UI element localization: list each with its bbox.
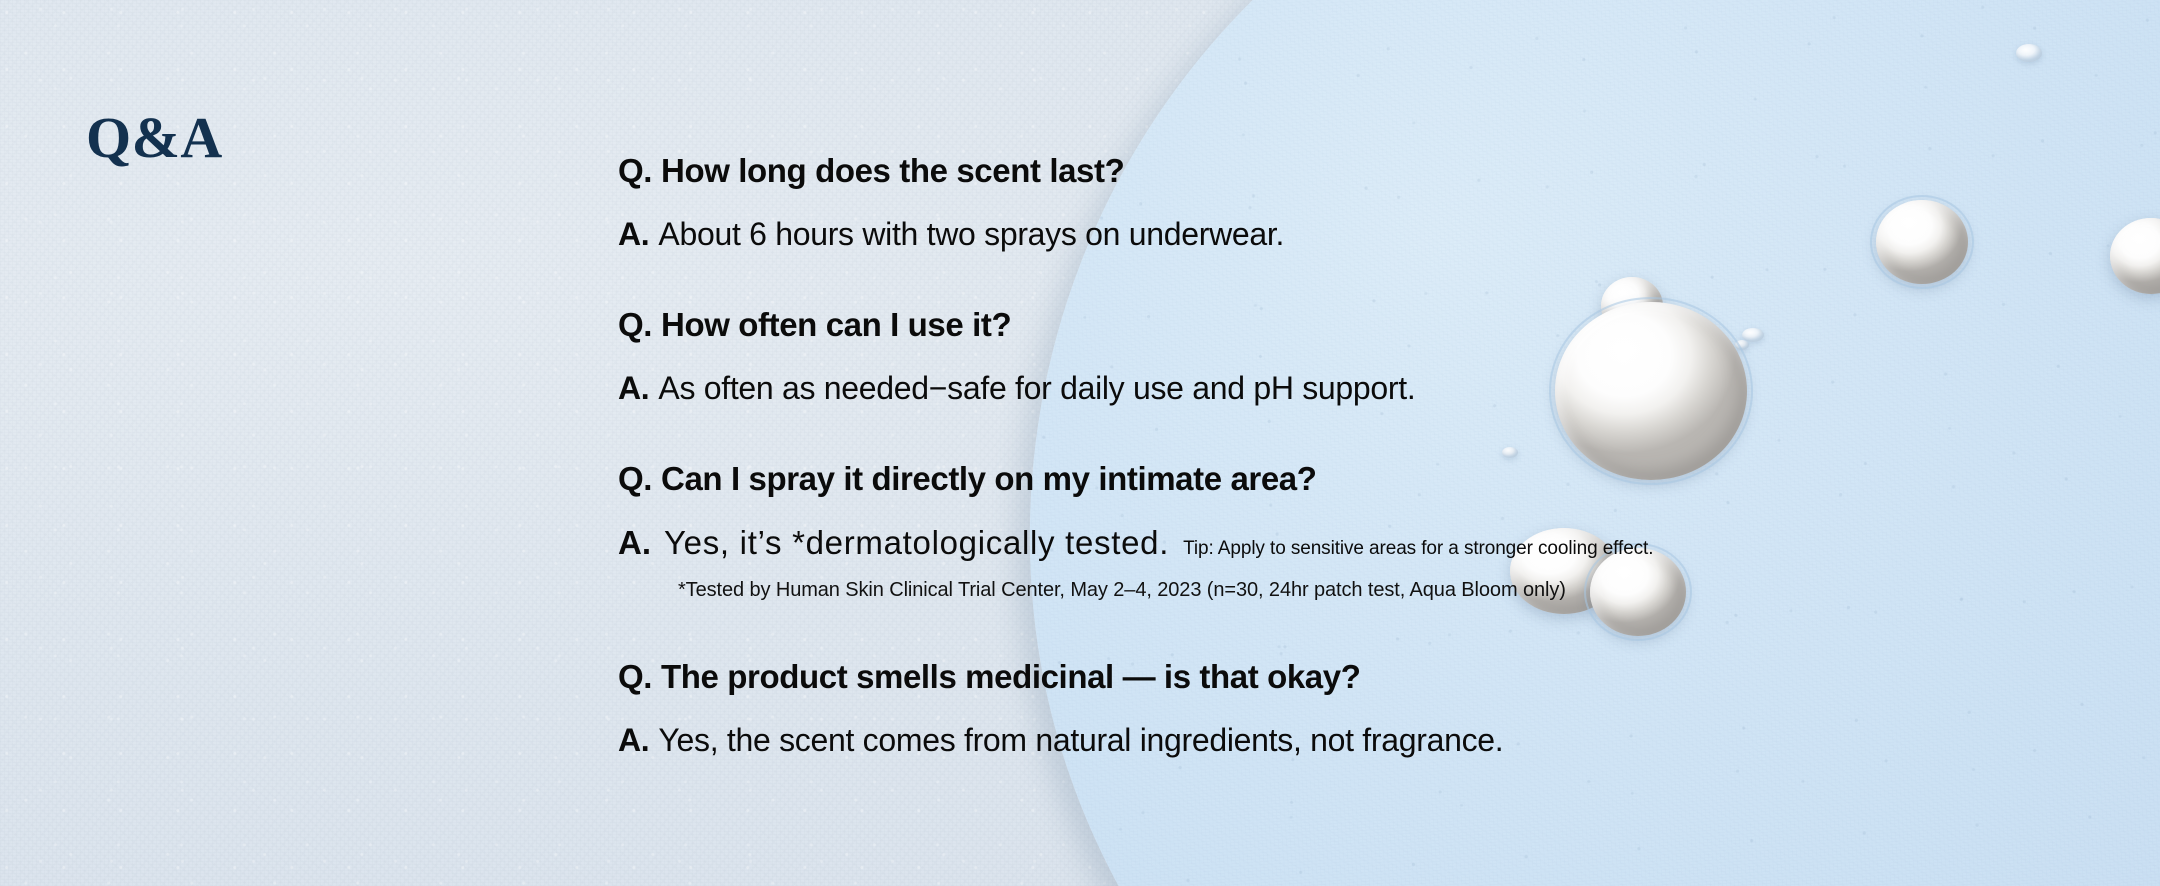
question-line-1: Q.How long does the scent last? <box>618 154 2118 187</box>
clinical-trial-footnote: *Tested by Human Skin Clinical Trial Cen… <box>678 579 2118 602</box>
answer-label: A. <box>618 216 649 252</box>
question-text: How often can I use it? <box>661 306 1011 343</box>
question-text: How long does the scent last? <box>661 152 1124 189</box>
answer-line-3: A.Yes, it’s *dermatologically tested.Tip… <box>618 526 2118 559</box>
question-line-4: Q.The product smells medicinal — is that… <box>618 660 2118 693</box>
answer-line-2: A.As often as needed−safe for daily use … <box>618 372 2118 404</box>
water-droplet-small-top <box>2016 44 2042 62</box>
question-label: Q. <box>618 460 652 497</box>
spacer <box>618 428 2118 462</box>
question-text: The product smells medicinal — is that o… <box>661 658 1360 695</box>
answer-label: A. <box>618 524 651 561</box>
answer-text: Yes, the scent comes from natural ingred… <box>658 722 1503 758</box>
question-line-3: Q.Can I spray it directly on my intimate… <box>618 462 2118 495</box>
spacer <box>618 274 2118 308</box>
answer-line-4: A.Yes, the scent comes from natural ingr… <box>618 724 2118 756</box>
page-title: Q&A <box>86 104 223 171</box>
answer-label: A. <box>618 370 649 406</box>
qa-item-3: Q.Can I spray it directly on my intimate… <box>618 462 2118 602</box>
answer-text: As often as needed−safe for daily use an… <box>658 370 1415 406</box>
qa-item-2: Q.How often can I use it? A.As often as … <box>618 308 2118 404</box>
spacer <box>618 626 2118 660</box>
question-line-2: Q.How often can I use it? <box>618 308 2118 341</box>
faq-graphic: Q&A Q.How long does the scent last? A.Ab… <box>0 0 2160 886</box>
question-label: Q. <box>618 152 652 189</box>
question-label: Q. <box>618 658 652 695</box>
answer-line-1: A.About 6 hours with two sprays on under… <box>618 218 2118 250</box>
question-text: Can I spray it directly on my intimate a… <box>661 460 1316 497</box>
answer-text: Yes, it’s *dermatologically tested. <box>664 524 1169 561</box>
question-label: Q. <box>618 306 652 343</box>
qa-item-1: Q.How long does the scent last? A.About … <box>618 154 2118 250</box>
answer-text: About 6 hours with two sprays on underwe… <box>658 216 1284 252</box>
qa-list: Q.How long does the scent last? A.About … <box>618 154 2118 756</box>
qa-item-4: Q.The product smells medicinal — is that… <box>618 660 2118 756</box>
answer-tip-text: Tip: Apply to sensitive areas for a stro… <box>1183 538 1653 559</box>
answer-label: A. <box>618 722 649 758</box>
